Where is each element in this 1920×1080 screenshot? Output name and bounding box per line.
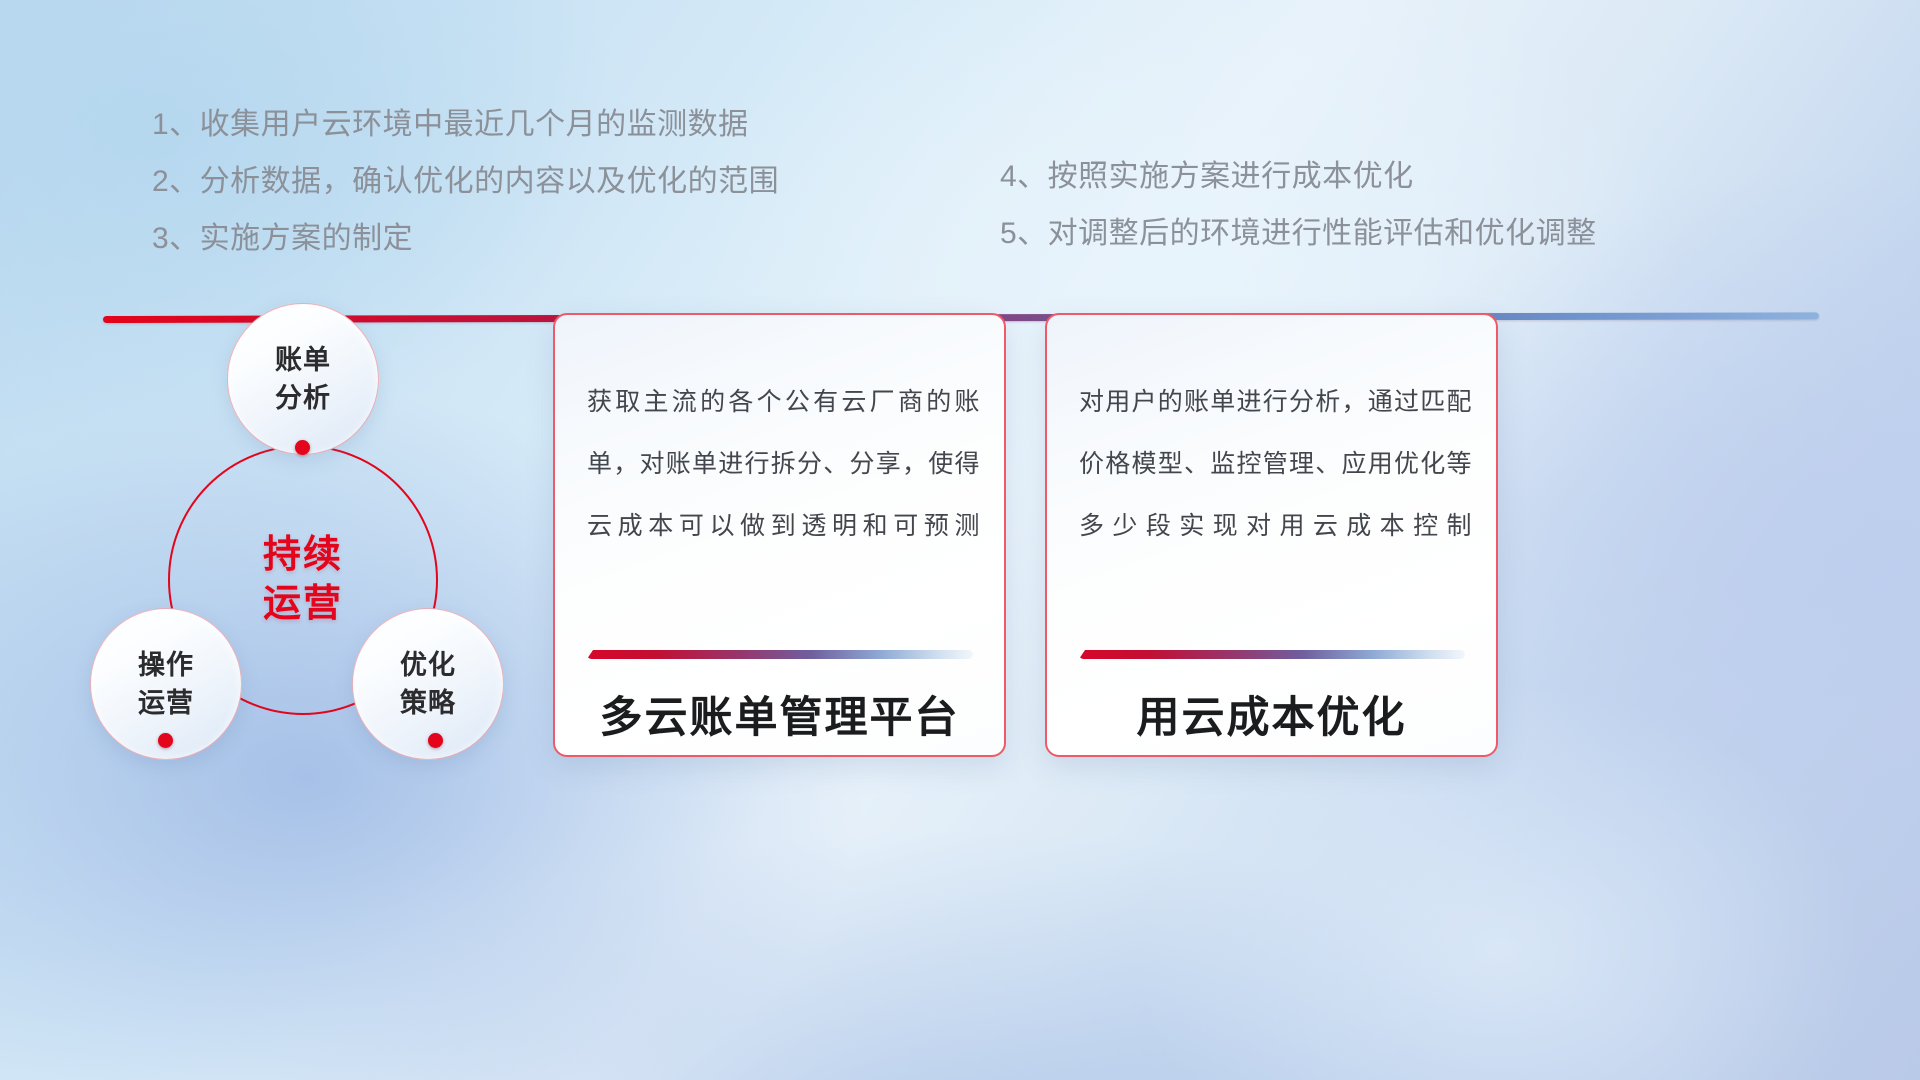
card-1-body: 获取主流的各个公有云厂商的账单，对账单进行拆分、分享，使得云成本可以做到透明和可… — [587, 371, 980, 557]
steps-column-left: 1、收集用户云环境中最近几个月的监测数据 2、分析数据，确认优化的内容以及优化的… — [152, 96, 779, 267]
bubble-operations-line2: 运营 — [138, 684, 194, 722]
card-2-body: 对用户的账单进行分析，通过匹配价格模型、监控管理、应用优化等多少段实现对用云成本… — [1079, 371, 1472, 557]
card-1-description: 获取主流的各个公有云厂商的账单，对账单进行拆分、分享，使得云成本可以做到透明和可… — [587, 371, 980, 557]
card-multicloud-billing-platform[interactable]: 获取主流的各个公有云厂商的账单，对账单进行拆分、分享，使得云成本可以做到透明和可… — [553, 313, 1006, 757]
card-1-title: 多云账单管理平台 — [555, 683, 1004, 745]
bubble-bill-analysis-line1: 账单 — [275, 341, 331, 379]
bubble-optimization-strategy-line2: 策略 — [400, 684, 456, 722]
cycle-node-dot-right — [428, 733, 443, 748]
card-1-accent-rule — [587, 650, 973, 659]
step-item-1: 1、收集用户云环境中最近几个月的监测数据 — [152, 96, 779, 153]
card-cloud-cost-optimization[interactable]: 对用户的账单进行分析，通过匹配价格模型、监控管理、应用优化等多少段实现对用云成本… — [1045, 313, 1498, 757]
card-2-description: 对用户的账单进行分析，通过匹配价格模型、监控管理、应用优化等多少段实现对用云成本… — [1079, 371, 1472, 557]
cycle-node-dot-top — [295, 440, 310, 455]
bubble-bill-analysis-line2: 分析 — [275, 379, 331, 417]
cycle-center-line2: 运营 — [263, 580, 343, 629]
step-item-4: 4、按照实施方案进行成本优化 — [1000, 148, 1597, 205]
cycle-node-dot-left — [158, 733, 173, 748]
card-2-accent-rule — [1079, 650, 1465, 659]
step-item-5: 5、对调整后的环境进行性能评估和优化调整 — [1000, 205, 1597, 262]
step-item-3: 3、实施方案的制定 — [152, 210, 779, 267]
steps-column-right: 4、按照实施方案进行成本优化 5、对调整后的环境进行性能评估和优化调整 — [1000, 148, 1597, 262]
bubble-operations-line1: 操作 — [138, 646, 194, 684]
card-2-title: 用云成本优化 — [1047, 683, 1496, 745]
cycle-center-line1: 持续 — [263, 531, 343, 580]
steps-list: 1、收集用户云环境中最近几个月的监测数据 2、分析数据，确认优化的内容以及优化的… — [0, 0, 1920, 260]
step-item-2: 2、分析数据，确认优化的内容以及优化的范围 — [152, 153, 779, 210]
bubble-bill-analysis[interactable]: 账单 分析 — [227, 303, 379, 455]
bubble-optimization-strategy-line1: 优化 — [400, 646, 456, 684]
continuous-operation-diagram: 持续 运营 账单 分析 操作 运营 优化 策略 — [80, 290, 550, 780]
